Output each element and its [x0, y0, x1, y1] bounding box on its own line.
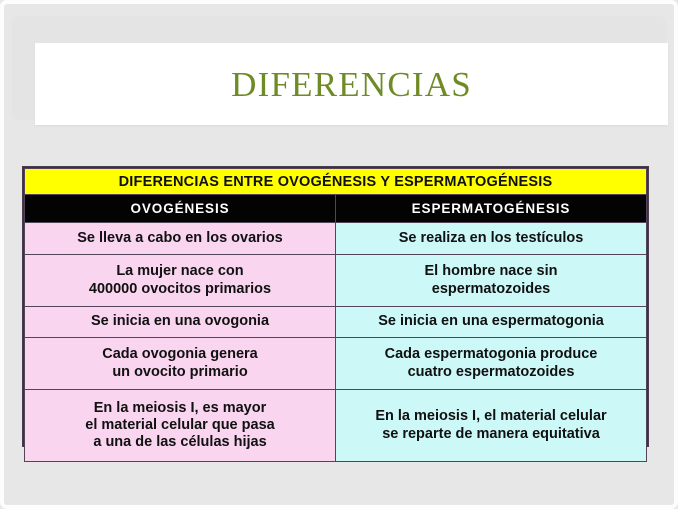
cell-espermatogenesis: Se inicia en una espermatogonia — [336, 307, 647, 338]
column-header-ovogenesis: OVOGÉNESIS — [25, 195, 336, 223]
cell-line: un ovocito primario — [29, 364, 331, 381]
cell-line: Cada espermatogonia produce — [340, 346, 642, 363]
cell-line: el material celular que pasa — [29, 417, 331, 434]
cell-line: Se realiza en los testículos — [340, 230, 642, 247]
table-banner-row: DIFERENCIAS ENTRE OVOGÉNESIS Y ESPERMATO… — [25, 169, 647, 195]
table-row: La mujer nace con 400000 ovocitos primar… — [25, 255, 647, 307]
table-header-row: OVOGÉNESIS ESPERMATOGÉNESIS — [25, 195, 647, 223]
column-header-espermatogenesis: ESPERMATOGÉNESIS — [336, 195, 647, 223]
cell-line: se reparte de manera equitativa — [340, 426, 642, 443]
comparison-table-container[interactable]: DIFERENCIAS ENTRE OVOGÉNESIS Y ESPERMATO… — [22, 166, 649, 447]
page-title: DIFERENCIAS — [231, 67, 472, 102]
cell-espermatogenesis: En la meiosis I, el material celular se … — [336, 390, 647, 462]
table-row: Cada ovogonia genera un ovocito primario… — [25, 338, 647, 390]
table-body: DIFERENCIAS ENTRE OVOGÉNESIS Y ESPERMATO… — [25, 169, 647, 462]
table-row: Se lleva a cabo en los ovarios Se realiz… — [25, 223, 647, 255]
cell-line: Se lleva a cabo en los ovarios — [29, 230, 331, 247]
cell-line: El hombre nace sin — [340, 263, 642, 280]
cell-line: La mujer nace con — [29, 263, 331, 280]
cell-ovogenesis: Se lleva a cabo en los ovarios — [25, 223, 336, 255]
cell-line: cuatro espermatozoides — [340, 364, 642, 381]
cell-espermatogenesis: El hombre nace sin espermatozoides — [336, 255, 647, 307]
table-row: En la meiosis I, es mayor el material ce… — [25, 390, 647, 462]
cell-ovogenesis: En la meiosis I, es mayor el material ce… — [25, 390, 336, 462]
cell-line: a una de las células hijas — [29, 434, 331, 451]
cell-line: En la meiosis I, el material celular — [340, 408, 642, 425]
comparison-table: DIFERENCIAS ENTRE OVOGÉNESIS Y ESPERMATO… — [24, 168, 647, 462]
table-row: Se inicia en una ovogonia Se inicia en u… — [25, 307, 647, 338]
cell-line: espermatozoides — [340, 281, 642, 298]
cell-espermatogenesis: Cada espermatogonia produce cuatro esper… — [336, 338, 647, 390]
cell-espermatogenesis: Se realiza en los testículos — [336, 223, 647, 255]
cell-line: 400000 ovocitos primarios — [29, 281, 331, 298]
cell-line: En la meiosis I, es mayor — [29, 400, 331, 417]
title-frame: DIFERENCIAS — [12, 16, 666, 120]
cell-line: Cada ovogonia genera — [29, 346, 331, 363]
cell-line: Se inicia en una ovogonia — [29, 313, 331, 330]
table-banner-title: DIFERENCIAS ENTRE OVOGÉNESIS Y ESPERMATO… — [25, 169, 647, 195]
presentation-slide: DIFERENCIAS DIFERENCIAS ENTRE OVOGÉNESIS… — [0, 0, 678, 509]
cell-ovogenesis: Cada ovogonia genera un ovocito primario — [25, 338, 336, 390]
cell-line: Se inicia en una espermatogonia — [340, 313, 642, 330]
cell-ovogenesis: Se inicia en una ovogonia — [25, 307, 336, 338]
cell-ovogenesis: La mujer nace con 400000 ovocitos primar… — [25, 255, 336, 307]
title-placeholder[interactable]: DIFERENCIAS — [35, 43, 668, 125]
